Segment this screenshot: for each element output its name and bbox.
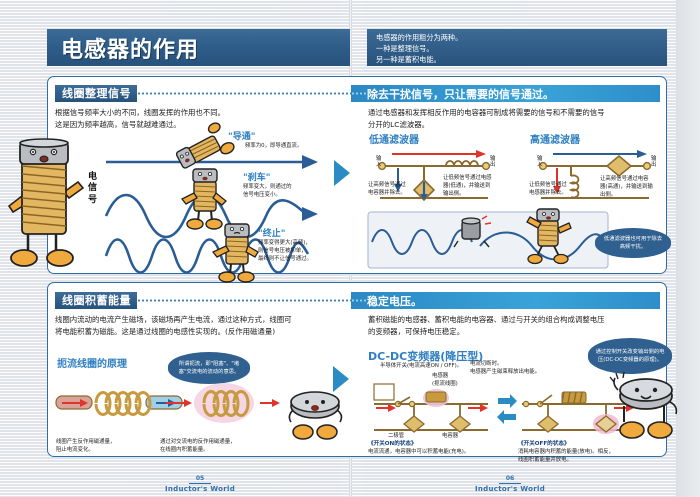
highpass-note-left: 让低频信号通过 电感器并除去。 bbox=[529, 181, 575, 197]
choke-coil-diagram-right bbox=[160, 376, 288, 432]
heading-dot-leader bbox=[137, 85, 351, 102]
heading-dot-leader-right bbox=[351, 85, 367, 102]
coil-signal-body-right: 通过电感器和发挥相反作用的电容器可制成将需要的信号和不需要的信号 分开的LC滤波… bbox=[368, 107, 664, 131]
choke-title: 扼流线圈的原理 bbox=[57, 355, 127, 370]
inductor-mascot-running bbox=[524, 206, 572, 266]
inductor-mascot-stopping bbox=[210, 222, 262, 284]
highpass-port-out: 输出 bbox=[651, 157, 658, 169]
inductor-mascot-noise bbox=[452, 215, 492, 249]
inductor-mascot-flat bbox=[283, 388, 347, 450]
body-line: 这是因为频率越高，信号就越难通过。 bbox=[55, 119, 345, 131]
footer-publication-name: Inductor's World bbox=[440, 485, 580, 493]
coil-energy-body-left: 线圈内流动的电流产生磁场，该磁场再产生电流，通过这种方式，线圈可 将电能积蓄为磁… bbox=[55, 314, 345, 338]
section-heading-right-label: 除去干扰信号，只让需要的信号通过。 bbox=[367, 86, 554, 102]
section-heading-coil-energy-right: 稳定电压。 bbox=[351, 292, 660, 309]
heading-dot-leader-right bbox=[351, 292, 367, 309]
section-heading-coil-signal-right: 除去干扰信号，只让需要的信号通过。 bbox=[351, 85, 660, 102]
choke-caption-right: 通过对交流电的反作用磁通量， 在线圈内积蓄能量。 bbox=[160, 438, 270, 454]
inductor-mascot-large bbox=[6, 140, 84, 280]
section-heading-coil-energy: 线圈积蓄能量 bbox=[55, 292, 351, 309]
intro-line-3: 另一种是蓄积电能。 bbox=[376, 54, 667, 65]
state-desc-0: 频率为0，即导通直流。 bbox=[245, 142, 345, 150]
body-line: 通过电感器和发挥相反作用的电容器可制成将需要的信号和不需要的信号 bbox=[368, 107, 664, 119]
footer-page-number: 06 bbox=[499, 475, 521, 484]
lowpass-port-in: 输入 bbox=[376, 157, 383, 169]
dcdc-state-on-desc: 电流流通，电容器中可以积蓄电能(充电)。 bbox=[368, 448, 498, 456]
page-title: 电感器的作用 bbox=[61, 32, 199, 64]
lowpass-filter-title: 低通滤波器 bbox=[369, 131, 419, 146]
section-heading-label: 线圈整理信号 bbox=[55, 85, 137, 102]
state-label-0: "导通" bbox=[228, 129, 255, 142]
dcdc-state-toggle-arrows bbox=[496, 392, 518, 424]
lowpass-filter-bubble: 低通滤波器也可用于除去高频干扰。 bbox=[595, 228, 671, 258]
lowpass-note-right: 让低频信号通过电感 器(低通)，并输送到 输出侧。 bbox=[443, 174, 495, 198]
highpass-port-in: 输入 bbox=[537, 157, 544, 169]
footer-page-number: 05 bbox=[189, 475, 211, 484]
footer-publication-name: Inductor's World bbox=[130, 485, 270, 493]
highpass-note-right: 让高频信号通过电容 器(高通)，并输送到输 出侧。 bbox=[600, 175, 656, 199]
flow-arrow-right-bottom bbox=[333, 366, 349, 392]
dcdc-bubble: 通过控制开关改变输出侧的电压(DC-DC变频器的原理)。 bbox=[588, 338, 672, 374]
signal-axis-label: 电信号 bbox=[88, 172, 100, 206]
dcdc-capacitor-label: 电容器 bbox=[442, 432, 458, 440]
inductor-mascot-waving bbox=[612, 376, 680, 452]
body-line: 根据信号频率大小的不同，线圈发挥的作用也不同。 bbox=[55, 107, 345, 119]
section-heading-right-label: 稳定电压。 bbox=[367, 293, 422, 309]
inductor-mascot-conducting bbox=[176, 131, 234, 171]
section-heading-label: 线圈积蓄能量 bbox=[55, 292, 137, 309]
heading-dot-leader bbox=[137, 292, 351, 309]
state-label-2: "终止" bbox=[258, 226, 285, 239]
footer-right: 06 Inductor's World bbox=[440, 465, 580, 493]
choke-caption-left: 线圈产生反作用磁通量， 阻止电流变化。 bbox=[56, 438, 152, 454]
flow-arrow-right-top bbox=[334, 160, 350, 186]
coil-signal-body-left: 根据信号频率大小的不同，线圈发挥的作用也不同。 这是因为频率越高，信号就越难通过… bbox=[55, 107, 345, 131]
state-desc-2: 频率变得更大(高频)， 则信号电压被抑单， 最终则不让信号通过。 bbox=[258, 239, 352, 263]
body-line: 分开的LC滤波器。 bbox=[368, 119, 664, 131]
footer-left: 05 Inductor's World bbox=[130, 465, 270, 493]
intro-line-1: 电感器的作用粗分为两种。 bbox=[376, 32, 667, 43]
lowpass-port-out: 输出 bbox=[490, 157, 497, 169]
dcdc-circuit-on bbox=[368, 380, 494, 436]
page-title-bar: 电感器的作用 bbox=[47, 29, 350, 66]
highpass-filter-title: 高通滤波器 bbox=[530, 131, 580, 146]
intro-line-2: 一种是整理信号。 bbox=[376, 43, 667, 54]
lowpass-note-left: 让高频信号通过 电容器并除去。 bbox=[368, 181, 414, 197]
section-heading-coil-signal: 线圈整理信号 bbox=[55, 85, 351, 102]
dcdc-switch-note: 电流切断时。 电感器产生磁束释放出电能。 bbox=[470, 360, 570, 376]
dcdc-diode-label: 二极管 bbox=[388, 432, 404, 440]
coil-energy-body-right: 蓄积磁能的电感器、蓄积电能的电容器、通过与开关的组合构成调整电压 的变频器，可保… bbox=[368, 314, 664, 338]
intro-box: 电感器的作用粗分为两种。 一种是整理信号。 另一种是蓄积电能。 bbox=[367, 29, 667, 66]
state-label-1: "刹车" bbox=[243, 170, 270, 183]
state-desc-1: 频率变大，则通过的 信号电压变小。 bbox=[243, 183, 343, 199]
